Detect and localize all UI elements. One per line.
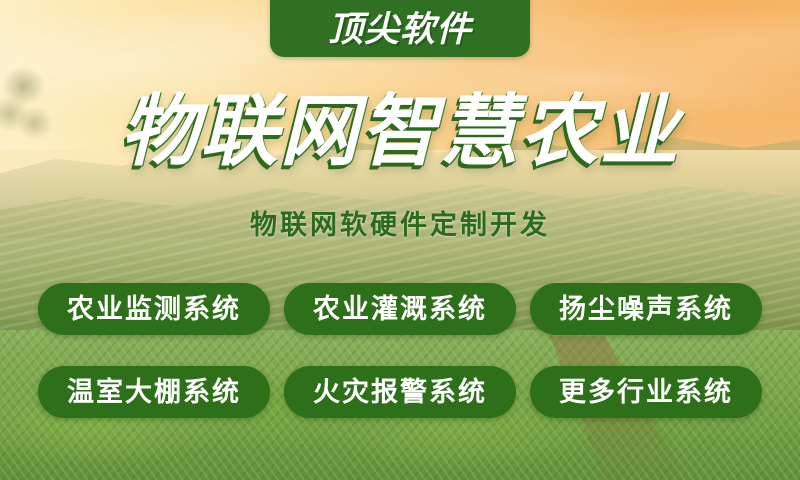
- system-pill-agriculture-irrigation[interactable]: 农业灌溉系统: [284, 283, 516, 335]
- system-pill-grid: 农业监测系统 农业灌溉系统 扬尘噪声系统 温室大棚系统 火灾报警系统 更多行业系…: [38, 283, 762, 418]
- subtitle: 物联网软硬件定制开发: [0, 203, 800, 242]
- system-pill-label: 温室大棚系统: [67, 379, 241, 406]
- system-pill-label: 更多行业系统: [559, 379, 733, 406]
- system-pill-label: 农业监测系统: [67, 296, 241, 323]
- banner-content: 顶尖软件 物联网智慧农业 物联网软硬件定制开发 农业监测系统 农业灌溉系统 扬尘…: [0, 0, 800, 480]
- system-pill-label: 扬尘噪声系统: [559, 296, 733, 323]
- promotional-banner: 顶尖软件 物联网智慧农业 物联网软硬件定制开发 农业监测系统 农业灌溉系统 扬尘…: [0, 0, 800, 480]
- brand-badge: 顶尖软件: [270, 0, 530, 57]
- system-pill-agriculture-monitoring[interactable]: 农业监测系统: [38, 283, 270, 335]
- system-pill-dust-noise[interactable]: 扬尘噪声系统: [530, 283, 762, 335]
- system-pill-fire-alarm[interactable]: 火灾报警系统: [284, 366, 516, 418]
- system-pill-greenhouse[interactable]: 温室大棚系统: [38, 366, 270, 418]
- system-pill-label: 农业灌溉系统: [313, 296, 487, 323]
- system-pill-more-industries[interactable]: 更多行业系统: [530, 366, 762, 418]
- brand-badge-label: 顶尖软件: [328, 12, 472, 57]
- headline: 物联网智慧农业: [0, 92, 800, 170]
- system-pill-label: 火灾报警系统: [313, 379, 487, 406]
